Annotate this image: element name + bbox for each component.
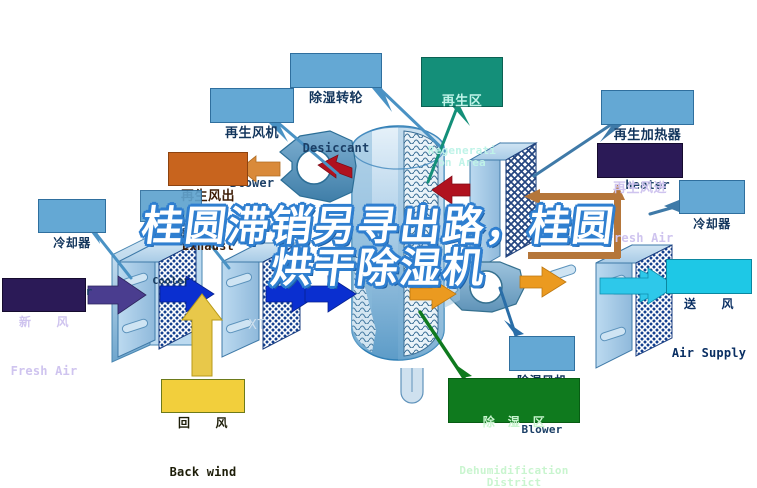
label-back-wind-cn: 回 风 — [162, 417, 244, 430]
label-cooler-left-far: 冷却器 Cooler — [38, 199, 106, 233]
label-regeneration-blower: 再生风机 Blower — [210, 88, 294, 123]
label-fresh-air-in-cn: 新 风 — [3, 316, 85, 329]
label-regeneration-fresh-air-in: 再生风进 Fresh Air — [597, 143, 683, 178]
label-desiccant-rotor-en: Desiccant — [291, 142, 381, 155]
label-regeneration-area: 再生区 Regenerati on Area — [421, 57, 503, 107]
condensate-tray — [401, 368, 423, 403]
label-dehumidification-district: 除 湿 区 Dehumidification District — [448, 378, 580, 423]
label-regeneration-heater: 再生加热器 heater — [601, 90, 694, 125]
diagram-canvas: 除湿转轮 Desiccant 再生风机 Blower 再生风出 Exhaust … — [0, 0, 757, 488]
label-desiccant-rotor-cn: 除湿转轮 — [291, 92, 381, 107]
label-back-wind: 回 风 Back wind — [161, 379, 245, 413]
label-dehumidification-district-cn: 除 湿 区 — [449, 416, 579, 429]
label-regeneration-area-cn: 再生区 — [422, 95, 502, 110]
label-regeneration-blower-cn: 再生风机 — [211, 127, 293, 142]
label-regeneration-exhaust: 再生风出 Exhaust — [168, 152, 248, 186]
process-air-arrow-3 — [305, 276, 356, 312]
label-regeneration-heater-cn: 再生加热器 — [602, 129, 693, 144]
label-desiccant-rotor: 除湿转轮 Desiccant — [290, 53, 382, 88]
label-back-wind-en: Back wind — [162, 466, 244, 479]
label-dehumidification-district-en: Dehumidification District — [449, 465, 579, 488]
label-regeneration-fresh-air-in-cn: 再生风进 — [598, 182, 682, 197]
label-cooler-left-near-cn: 冷却器 — [141, 228, 201, 240]
label-cooler-left-near: 冷却器 Cooler — [140, 190, 202, 222]
label-cooler-right-cn: 冷却器 — [680, 218, 744, 231]
label-cooler-left-near-en: Cooler — [141, 276, 201, 287]
label-dehumidification-blower: 除湿风机 Blower — [509, 336, 575, 371]
label-air-supply-out-cn: 送 风 — [667, 298, 751, 311]
label-fresh-air-in-en: Fresh Air — [3, 365, 85, 378]
label-fresh-air-in: 新 风 Fresh Air — [2, 278, 86, 312]
label-cooler-right: 冷却器 Cooler — [679, 180, 745, 214]
label-air-supply-out-en: Air Supply — [667, 347, 751, 360]
watermark-text: XT — [248, 318, 267, 333]
label-cooler-left-far-cn: 冷却器 — [39, 237, 105, 250]
label-regeneration-fresh-air-in-en: Fresh Air — [598, 232, 682, 245]
label-regeneration-area-en: Regenerati on Area — [422, 145, 502, 170]
label-air-supply-out: 送 风 Air Supply — [666, 259, 752, 294]
